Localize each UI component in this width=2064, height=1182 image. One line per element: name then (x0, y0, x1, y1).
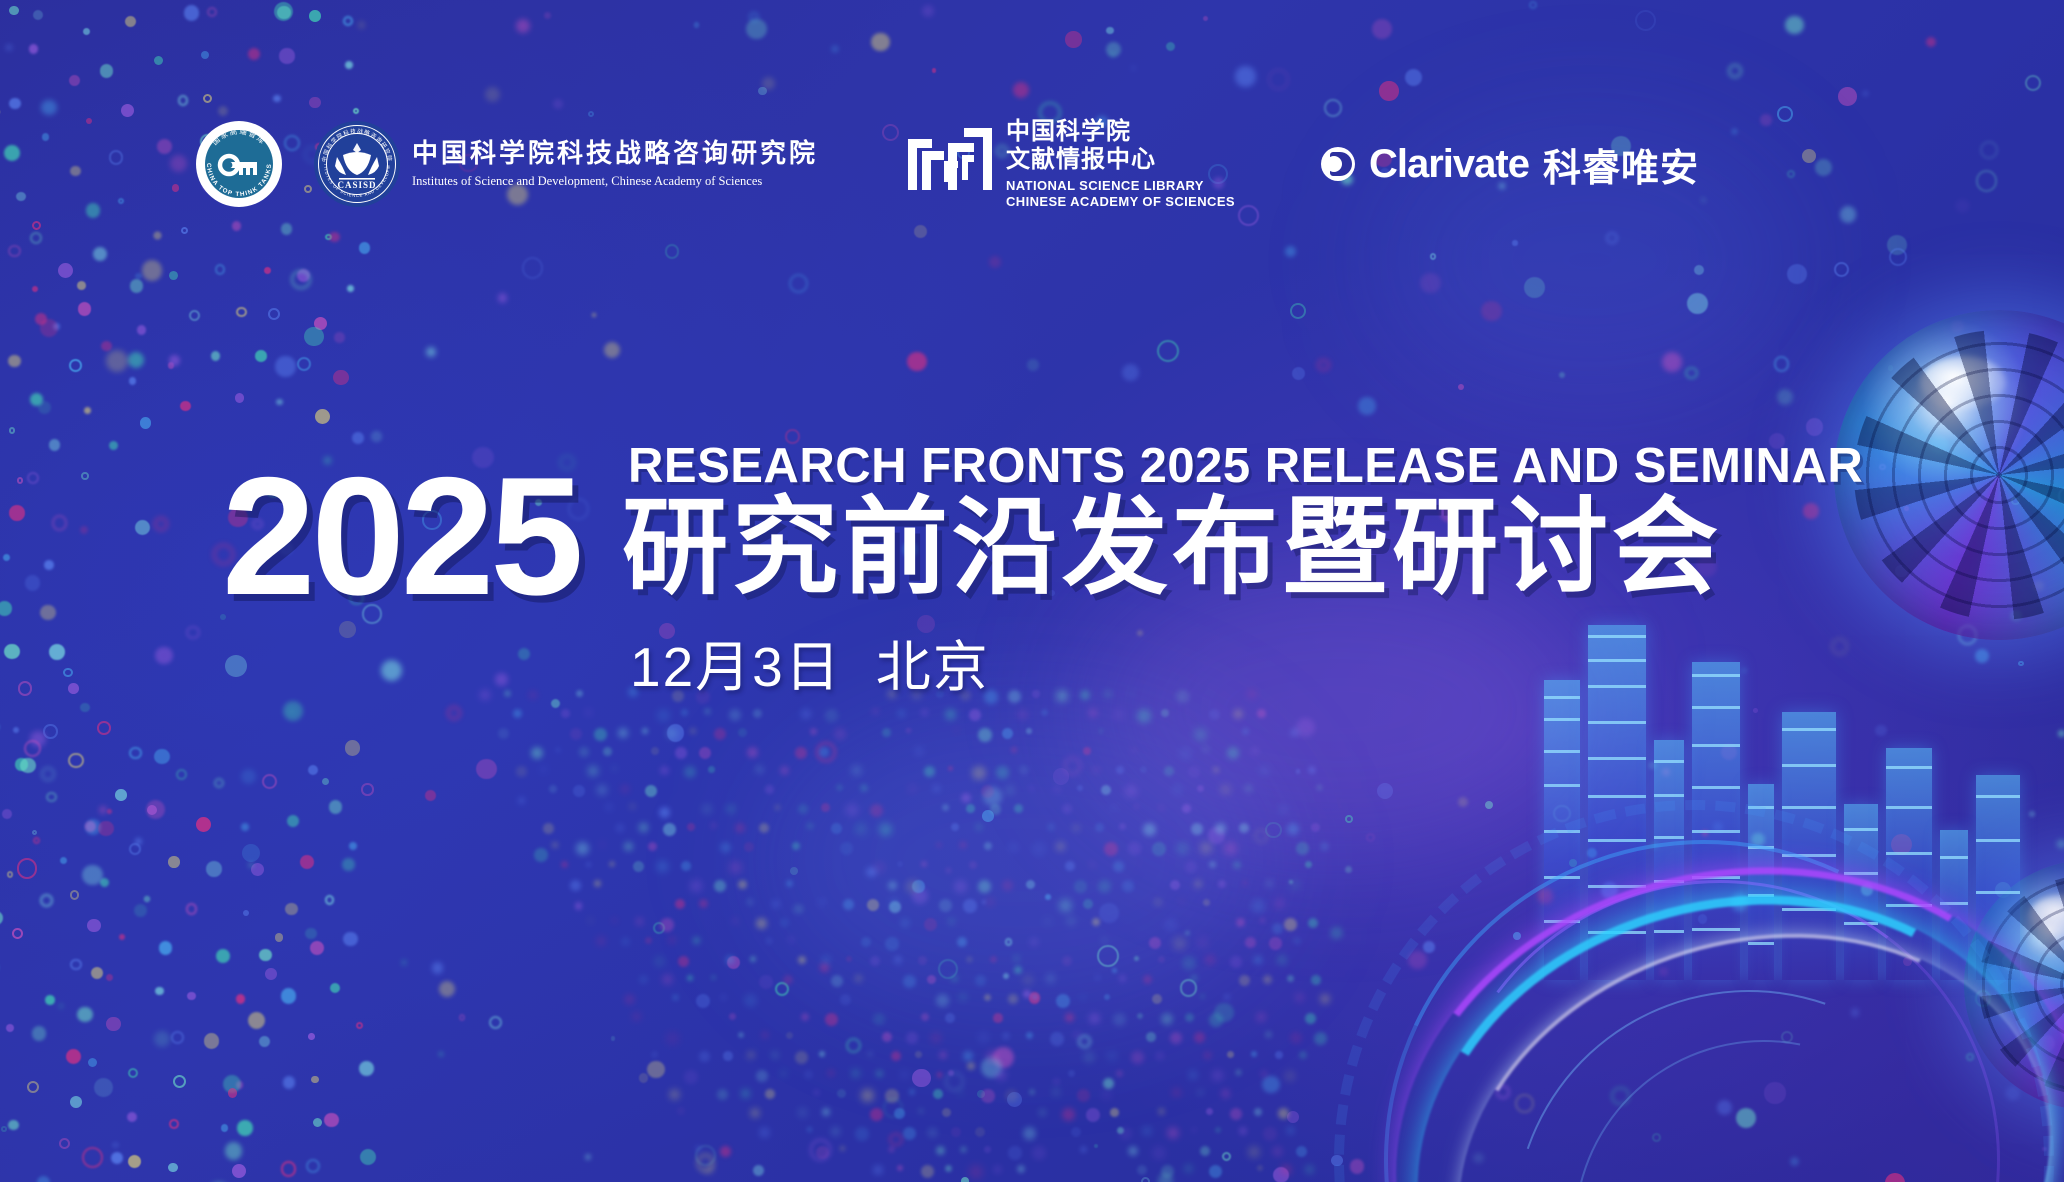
clarivate-wordmark: Clarivate (1369, 142, 1529, 187)
event-meta: 12月3日北京 (630, 640, 990, 695)
conference-banner: 国家高端智库 CHINA TOP THINK TANKS (0, 0, 2064, 1182)
svg-text:国家高端智库: 国家高端智库 (210, 126, 268, 147)
logo-national-science-library: 中国科学院 文献情报中心 NATIONAL SCIENCE LIBRARY CH… (904, 118, 1235, 211)
clarivate-mark-icon (1321, 147, 1355, 181)
year-display: 2025 (222, 452, 580, 620)
title-english: RESEARCH FRONTS 2025 RELEASE AND SEMINAR (628, 442, 1863, 491)
title-chinese: 研究前沿发布暨研讨会 (622, 490, 1722, 607)
clarivate-wordmark-cn: 科睿唯安 (1543, 137, 1699, 192)
logo-clarivate: Clarivate 科睿唯安 (1321, 137, 1699, 192)
partner-logo-row: 国家高端智库 CHINA TOP THINK TANKS (196, 118, 1699, 211)
nsl-bracket-icon (904, 125, 996, 203)
nsl-name-cn-line1: 中国科学院 (1006, 118, 1235, 146)
nsl-name-en-line1: NATIONAL SCIENCE LIBRARY (1006, 178, 1235, 195)
event-location: 北京 (876, 636, 990, 698)
china-top-think-tanks-seal-icon: 国家高端智库 CHINA TOP THINK TANKS (196, 121, 282, 207)
casisd-seal-icon: 中国科学院科技战略咨询研究院 INSTITUTES OF SCIENCE AND… (314, 121, 400, 207)
event-date: 12月3日 (630, 636, 842, 698)
casisd-name-cn: 中国科学院科技战略咨询研究院 (412, 138, 818, 169)
casisd-name-en: Institutes of Science and Development, C… (412, 172, 818, 191)
logo-casisd: 中国科学院科技战略咨询研究院 INSTITUTES OF SCIENCE AND… (314, 121, 818, 207)
nsl-name-en-line2: CHINESE ACADEMY OF SCIENCES (1006, 194, 1235, 211)
svg-text:CASISD: CASISD (337, 180, 376, 190)
nsl-name-cn-line2: 文献情报中心 (1006, 146, 1235, 174)
logo-china-top-think-tanks: 国家高端智库 CHINA TOP THINK TANKS (196, 121, 282, 207)
